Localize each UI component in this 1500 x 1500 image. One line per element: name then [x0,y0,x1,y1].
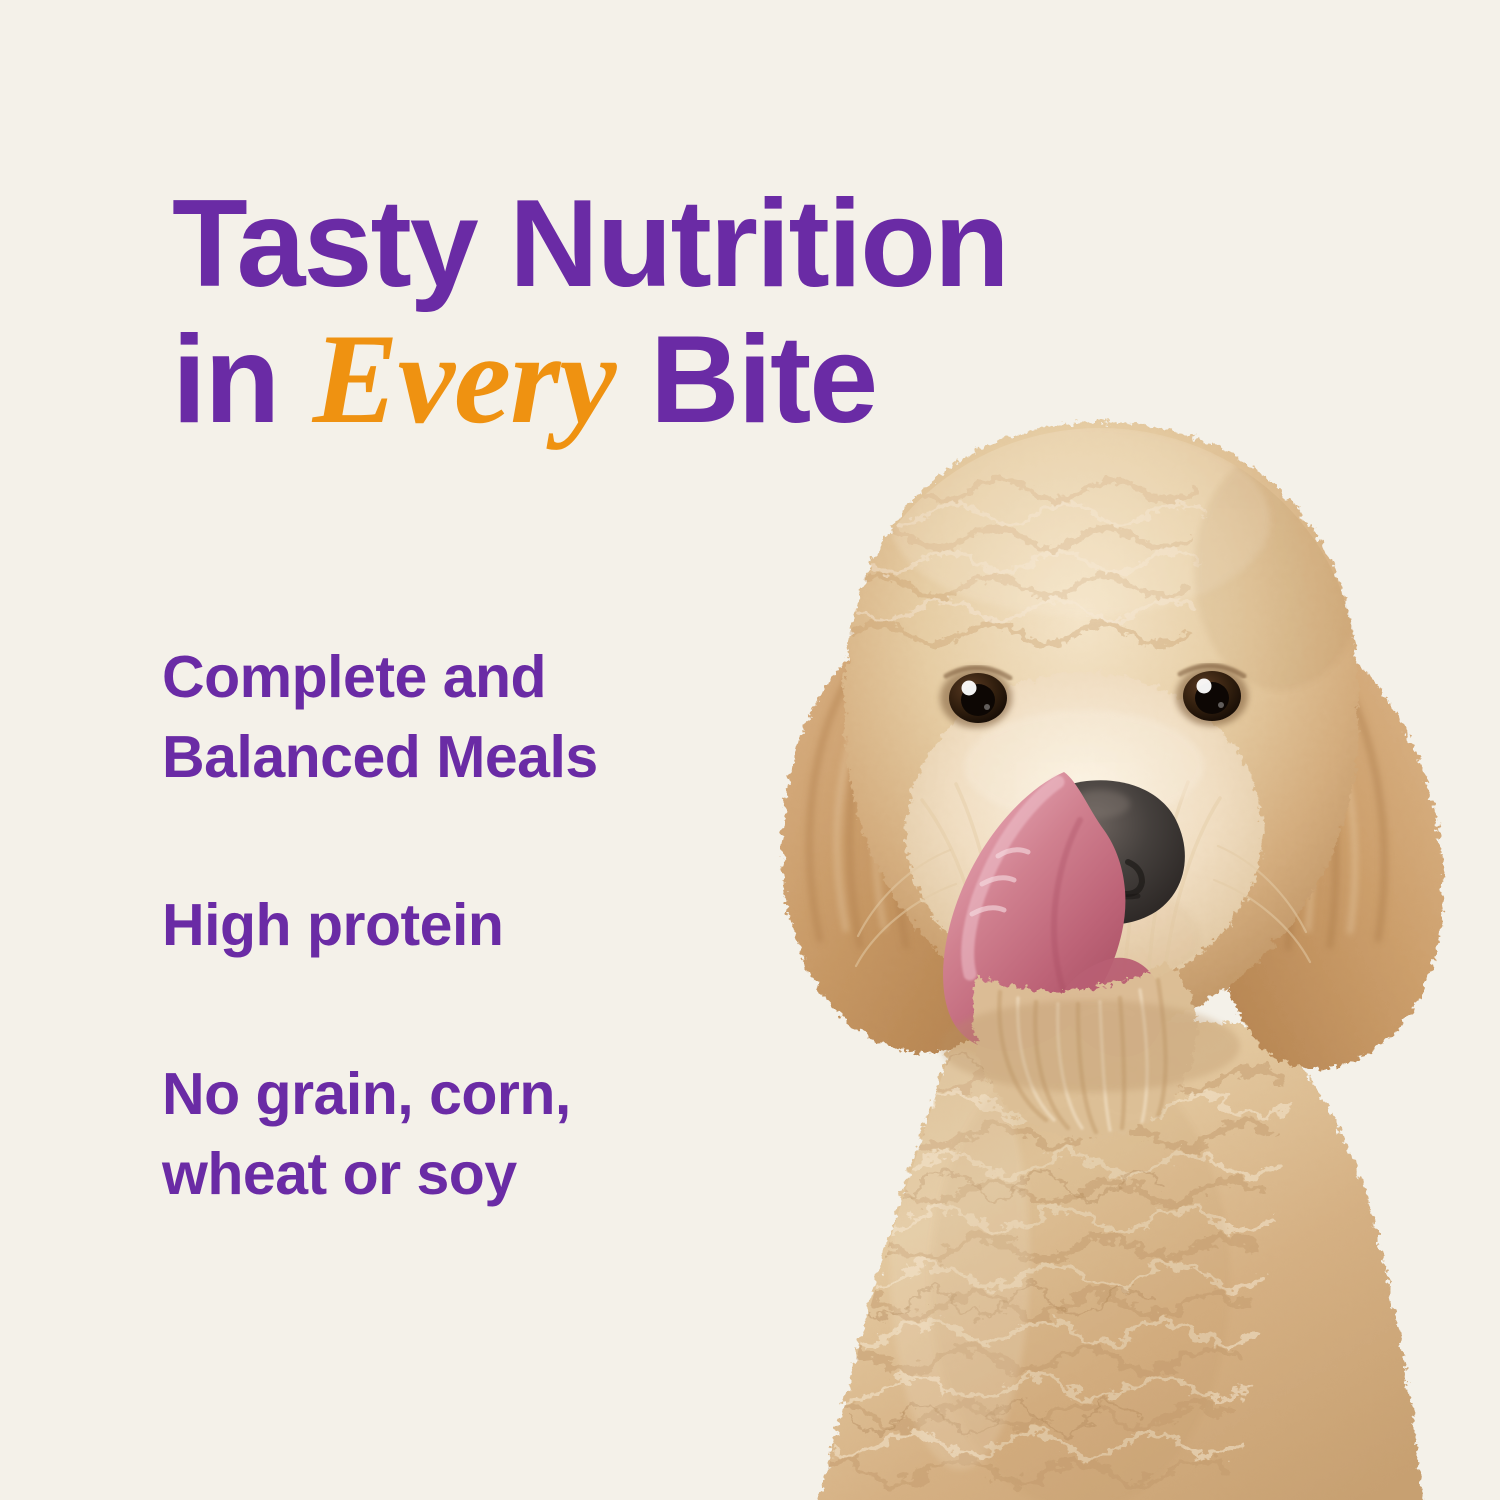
headline-emphasis-every: Every [311,307,618,450]
dog-photo [660,380,1500,1500]
headline-suffix: Bite [618,311,877,449]
headline-line-1: Tasty Nutrition [172,179,1292,310]
headline-line-2: in Every Bite [172,311,1292,448]
product-benefits-banner: Tasty Nutrition in Every Bite Complete a… [0,0,1500,1500]
benefit-item-complete-balanced: Complete and Balanced Meals [162,637,722,797]
benefits-list: Complete and Balanced Meals High protein… [162,578,722,1214]
benefit-item-no-grain: No grain, corn, wheat or soy [162,1054,722,1214]
benefit-item-high-protein: High protein [162,885,722,965]
headline-prefix: in [172,311,311,449]
page-title: Tasty Nutrition in Every Bite [172,179,1292,447]
